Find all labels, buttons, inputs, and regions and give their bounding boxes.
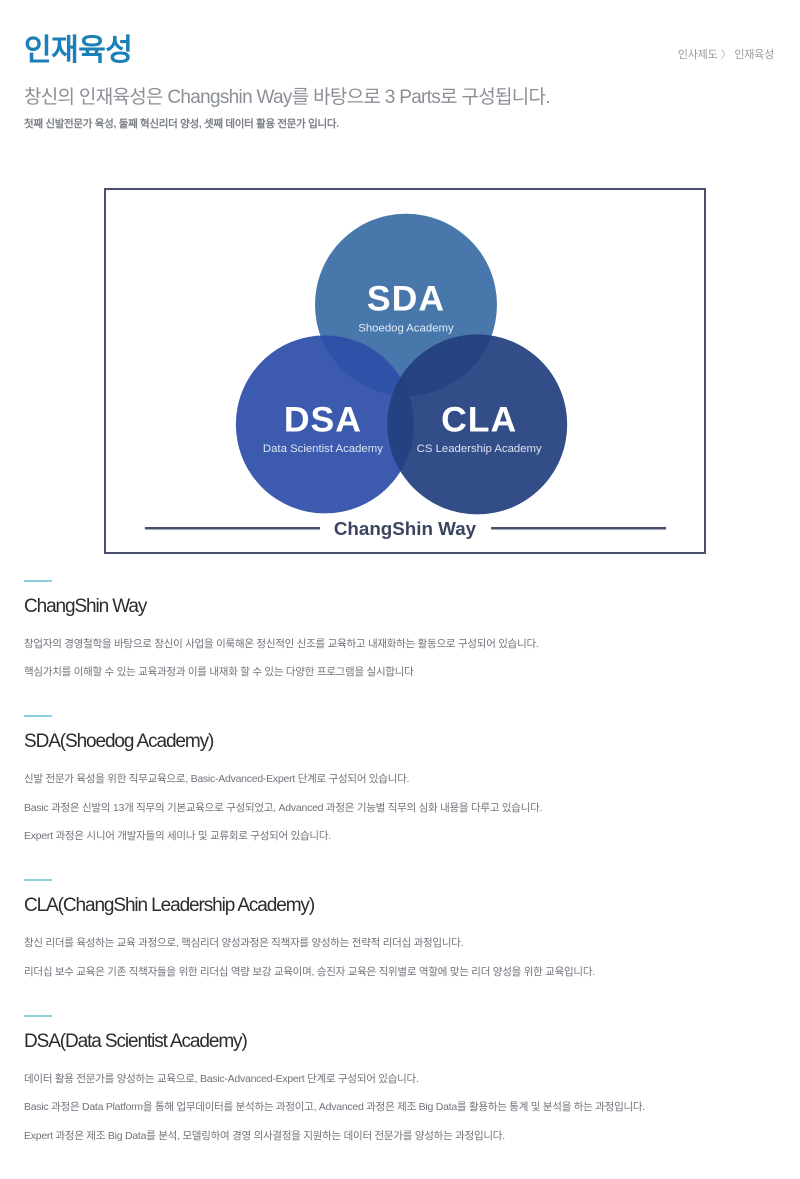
section-line: 창신 리더를 육성하는 교육 과정으로, 핵심리더 양성과정은 직책자를 양성하… <box>24 934 776 952</box>
venn-circles-group <box>236 214 567 515</box>
intro-sub-text: 첫째 신발전문가 육성, 둘째 혁신리더 양성, 셋째 데이터 활용 전문가 입… <box>24 116 772 131</box>
section-heading: ChangShin Way <box>24 596 776 619</box>
venn-label-sda-abbr: SDA <box>367 279 445 319</box>
breadcrumb-parent[interactable]: 인사제도 <box>678 49 718 61</box>
breadcrumb: 인사제도〉인재육성 <box>678 46 774 62</box>
intro-lead-text: 창신의 인재육성은 Changshin Way를 바탕으로 3 Parts로 구… <box>24 86 772 110</box>
section-heading: SDA(Shoedog Academy) <box>24 731 776 754</box>
section-line: 신발 전문가 육성을 위한 직무교육으로, Basic-Advanced-Exp… <box>24 770 776 788</box>
section-dsa: DSA(Data Scientist Academy) 데이터 활용 전문가를 … <box>24 1015 776 1145</box>
venn-diagram-svg: SDA Shoedog Academy DSA Data Scientist A… <box>106 190 704 552</box>
venn-label-dsa-full: Data Scientist Academy <box>263 443 383 455</box>
section-sda: SDA(Shoedog Academy) 신발 전문가 육성을 위한 직무교육으… <box>24 715 776 845</box>
venn-label-cla-full: CS Leadership Academy <box>417 443 542 455</box>
section-body: 창신 리더를 육성하는 교육 과정으로, 핵심리더 양성과정은 직책자를 양성하… <box>24 934 776 981</box>
section-line: Expert 과정은 시니어 개발자들의 세미나 및 교류회로 구성되어 있습니… <box>24 827 776 845</box>
section-line: Basic 과정은 Data Platform을 통해 업무데이터를 분석하는 … <box>24 1098 776 1116</box>
section-body: 데이터 활용 전문가를 양성하는 교육으로, Basic-Advanced-Ex… <box>24 1070 776 1145</box>
section-line: 핵심가치를 이해할 수 있는 교육과정과 이를 내재화 할 수 있는 다양한 프… <box>24 663 776 681</box>
section-changshin-way: ChangShin Way 창업자의 경영철학을 바탕으로 창신이 사업을 이룩… <box>24 580 776 681</box>
section-line: 리더십 보수 교육은 기존 직책자들을 위한 리더십 역량 보강 교육이며, 승… <box>24 963 776 981</box>
section-body: 신발 전문가 육성을 위한 직무교육으로, Basic-Advanced-Exp… <box>24 770 776 845</box>
section-body: 창업자의 경영철학을 바탕으로 창신이 사업을 이룩해온 정신적인 신조를 교육… <box>24 635 776 682</box>
venn-label-dsa-abbr: DSA <box>284 399 362 439</box>
section-line: 데이터 활용 전문가를 양성하는 교육으로, Basic-Advanced-Ex… <box>24 1070 776 1088</box>
section-rule-icon <box>24 879 52 881</box>
content-sections: ChangShin Way 창업자의 경영철학을 바탕으로 창신이 사업을 이룩… <box>24 580 776 1179</box>
section-cla: CLA(ChangShin Leadership Academy) 창신 리더를… <box>24 879 776 980</box>
section-rule-icon <box>24 1015 52 1017</box>
section-rule-icon <box>24 715 52 717</box>
venn-label-sda-full: Shoedog Academy <box>358 322 454 334</box>
section-rule-icon <box>24 580 52 582</box>
section-line: Basic 과정은 신발의 13개 직무의 기본교육으로 구성되었고, Adva… <box>24 799 776 817</box>
section-line: Expert 과정은 제조 Big Data를 분석, 모델링하여 경영 의사결… <box>24 1127 776 1145</box>
venn-label-cla-abbr: CLA <box>441 399 517 439</box>
breadcrumb-current: 인재육성 <box>734 49 774 61</box>
section-line: 창업자의 경영철학을 바탕으로 창신이 사업을 이룩해온 정신적인 신조를 교육… <box>24 635 776 653</box>
section-heading: CLA(ChangShin Leadership Academy) <box>24 895 776 918</box>
page-header: 인재육성 인사제도〉인재육성 창신의 인재육성은 Changshin Way를 … <box>0 0 800 140</box>
talent-development-diagram: SDA Shoedog Academy DSA Data Scientist A… <box>104 188 706 554</box>
diagram-caption: ChangShin Way <box>334 518 477 539</box>
section-heading: DSA(Data Scientist Academy) <box>24 1031 776 1054</box>
page-title: 인재육성 <box>24 30 772 67</box>
breadcrumb-separator-icon: 〉 <box>721 49 732 61</box>
